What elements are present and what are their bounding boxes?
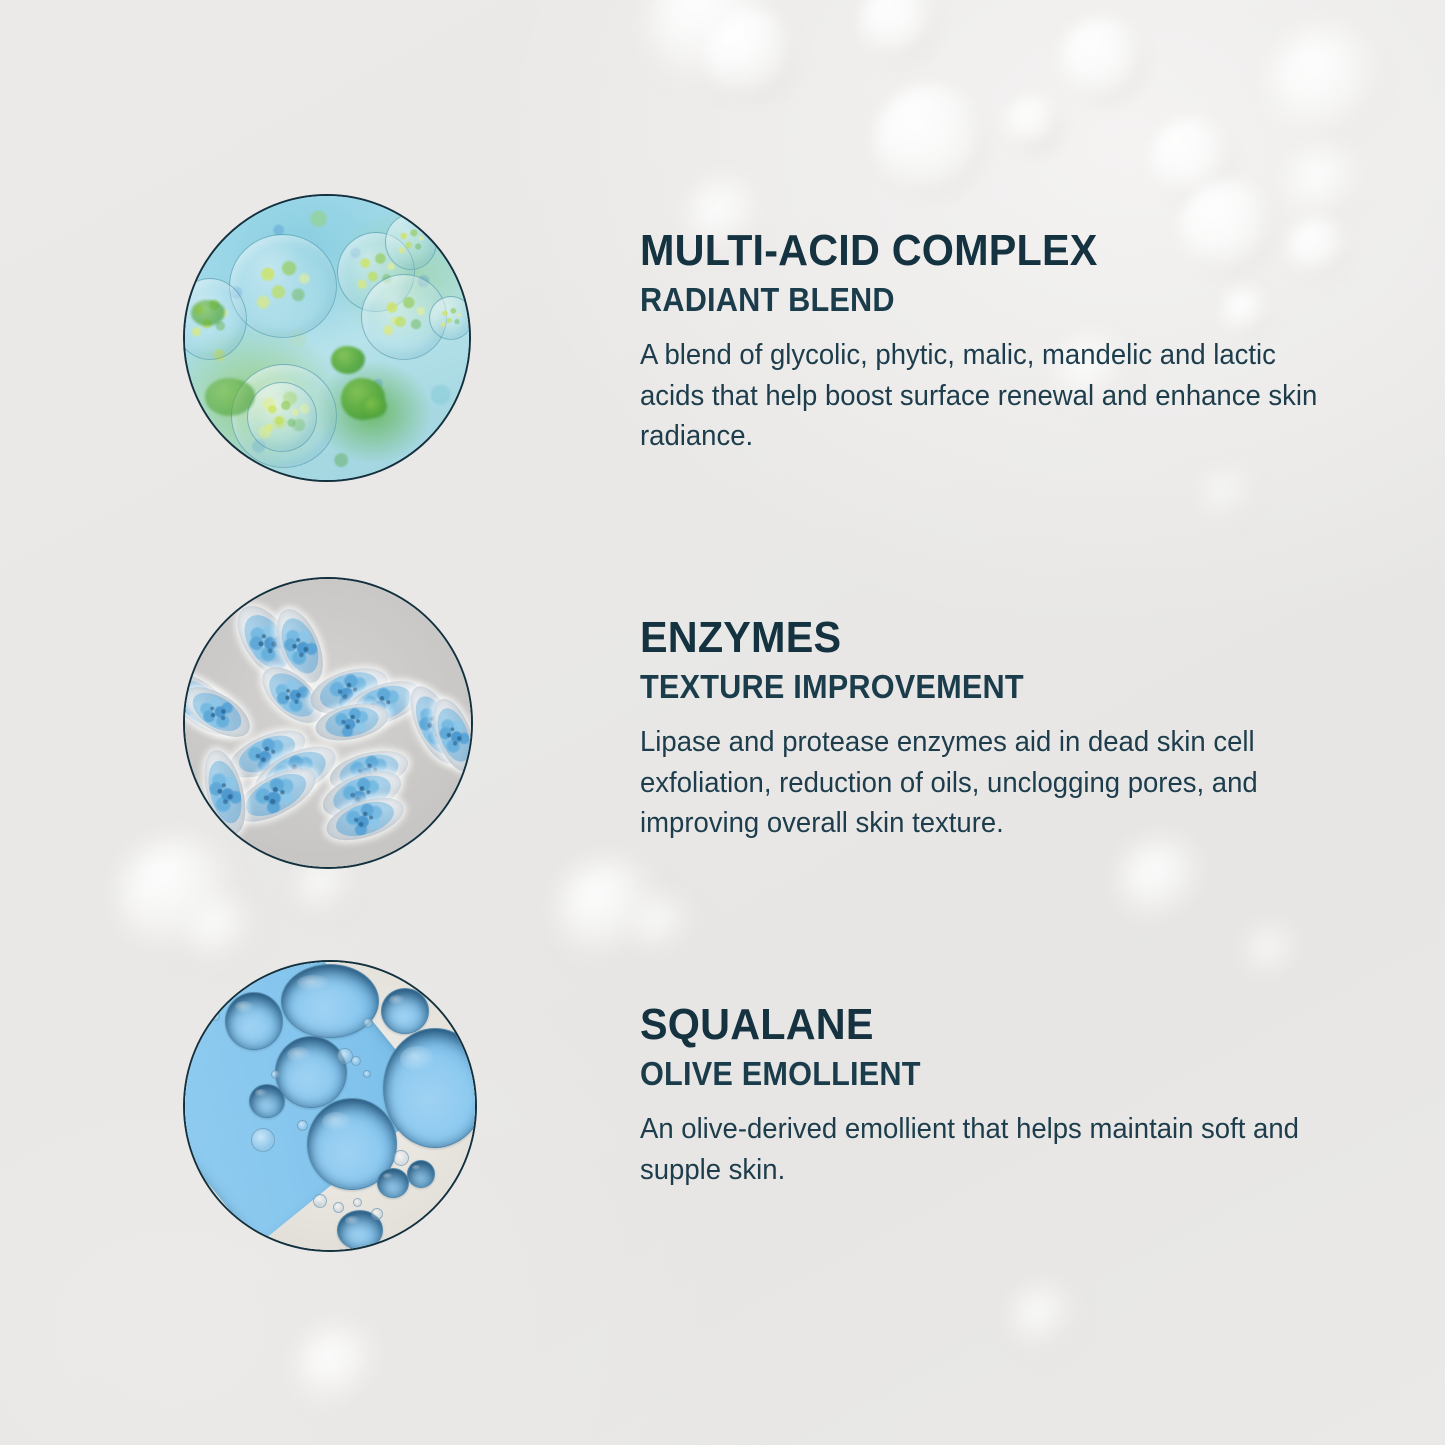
oil-micro-bubble [351,1056,361,1066]
squalane-title: SQUALANE [640,1002,1326,1048]
oil-droplet [381,988,429,1034]
background-bubble [1005,96,1063,154]
oil-micro-bubble [363,1018,373,1028]
algae-cell [247,382,317,452]
oil-droplet [383,1028,477,1148]
oil-micro-bubble [211,1012,220,1021]
background-bubble [875,85,987,197]
background-bubble [190,900,254,964]
enzymes-subtitle: TEXTURE IMPROVEMENT [640,669,1319,705]
background-bubble [1015,1290,1073,1348]
oil-micro-bubble [393,1150,409,1166]
algae-cell [429,296,471,340]
background-bubble [300,862,352,914]
squalane-image [183,960,477,1252]
background-bubble [706,10,798,102]
section-enzymes: ENZYMES TEXTURE IMPROVEMENT Lipase and p… [183,577,1383,869]
multi-acid-complex-body: A blend of glycolic, phytic, malic, mand… [640,335,1344,456]
multi-acid-complex-subtitle: RADIANT BLEND [640,282,1319,318]
squalane-subtitle: OLIVE EMOLLIENT [640,1056,1319,1092]
oil-micro-bubble [251,1128,275,1152]
oil-droplet [249,1084,285,1118]
oil-micro-bubble [223,980,236,993]
enzymes-image [183,577,473,869]
background-bubble [1272,30,1380,138]
background-bubble [1060,18,1146,104]
section-squalane: SQUALANE OLIVE EMOLLIENT An olive-derive… [183,960,1383,1252]
multi-acid-complex-copy: MULTI-ACID COMPLEX RADIANT BLEND A blend… [640,228,1370,457]
enzymes-copy: ENZYMES TEXTURE IMPROVEMENT Lipase and p… [640,615,1370,844]
oil-droplet [275,1036,347,1108]
oil-droplet [225,992,283,1050]
background-bubble [636,900,690,954]
oil-micro-bubble [371,1208,383,1220]
background-bubble [860,0,938,62]
squalane-body: An olive-derived emollient that helps ma… [640,1109,1344,1190]
algae-cell [385,214,437,270]
multi-acid-complex-image [183,194,471,482]
oil-micro-bubble [297,1120,308,1131]
oil-droplet [377,1168,409,1198]
oil-micro-bubble [271,1070,280,1079]
oil-droplet [407,1160,435,1188]
enzymes-body: Lipase and protease enzymes aid in dead … [640,722,1344,843]
oil-micro-bubble [313,1194,327,1208]
squalane-copy: SQUALANE OLIVE EMOLLIENT An olive-derive… [640,1002,1370,1190]
oil-micro-bubble [353,1198,362,1207]
section-multi-acid-complex: MULTI-ACID COMPLEX RADIANT BLEND A blend… [183,194,1383,482]
enzymes-title: ENZYMES [640,615,1326,661]
oil-micro-bubble [333,1202,344,1213]
background-bubble [300,1330,378,1408]
infographic-canvas: MULTI-ACID COMPLEX RADIANT BLEND A blend… [0,0,1445,1445]
multi-acid-complex-title: MULTI-ACID COMPLEX [640,228,1326,274]
oil-micro-bubble [363,1070,371,1078]
